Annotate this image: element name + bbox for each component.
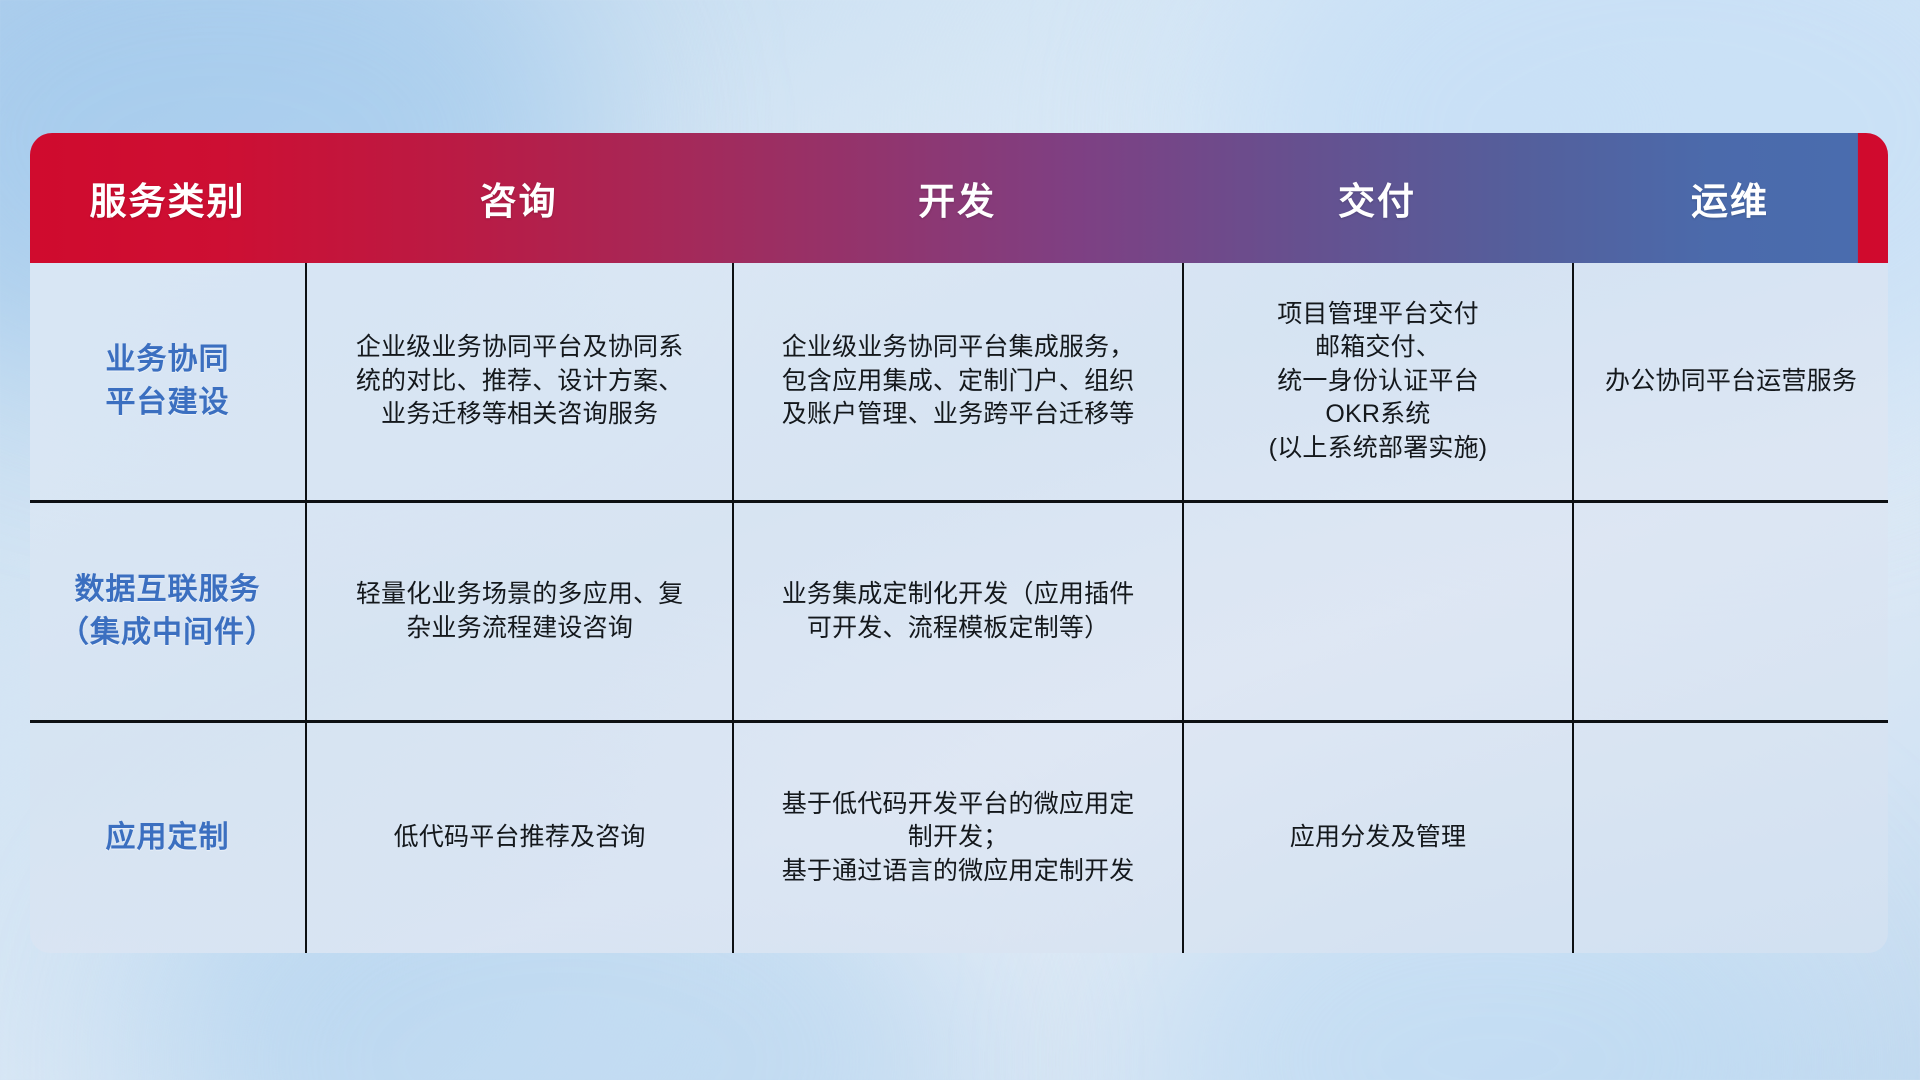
cell-line: 基于通过语言的微应用定制开发 <box>750 855 1166 889</box>
cell-line: 邮箱交付、 <box>1200 331 1556 365</box>
column-header-delivery: 交付 <box>1182 133 1572 263</box>
cell-row2-operations <box>1572 503 1888 723</box>
column-header-development: 开发 <box>732 133 1182 263</box>
cell-line: 及账户管理、业务跨平台迁移等 <box>750 398 1166 432</box>
cell-line: (以上系统部署实施) <box>1200 432 1556 466</box>
cell-row2-consulting: 轻量化业务场景的多应用、复 杂业务流程建设咨询 <box>305 503 732 723</box>
row-label-line: 应用定制 <box>46 817 289 860</box>
cell-row1-operations: 办公协同平台运营服务 <box>1572 263 1888 503</box>
row-label-app-customization: 应用定制 <box>30 723 305 953</box>
row-label-line: 数据互联服务 <box>46 569 289 612</box>
column-header-operations: 运维 <box>1572 133 1888 263</box>
table-row: 业务协同 平台建设 企业级业务协同平台及协同系 统的对比、推荐、设计方案、 业务… <box>30 263 1888 503</box>
cell-line: 企业级业务协同平台及协同系 <box>323 331 716 365</box>
cell-line: 应用分发及管理 <box>1200 821 1556 855</box>
column-header-category: 服务类别 <box>30 133 305 263</box>
table-header: 服务类别 咨询 开发 交付 运维 <box>30 133 1888 263</box>
cell-row3-delivery: 应用分发及管理 <box>1182 723 1572 953</box>
row-label-line: 业务协同 <box>46 339 289 382</box>
cell-row3-development: 基于低代码开发平台的微应用定 制开发； 基于通过语言的微应用定制开发 <box>732 723 1182 953</box>
cell-line: 项目管理平台交付 <box>1200 298 1556 332</box>
table-body: 业务协同 平台建设 企业级业务协同平台及协同系 统的对比、推荐、设计方案、 业务… <box>30 263 1888 953</box>
cell-line: 业务迁移等相关咨询服务 <box>323 398 716 432</box>
cell-line: 业务集成定制化开发（应用插件 <box>750 578 1166 612</box>
cell-empty <box>1590 611 1872 612</box>
cell-row2-development: 业务集成定制化开发（应用插件 可开发、流程模板定制等） <box>732 503 1182 723</box>
row-label-business-collaboration: 业务协同 平台建设 <box>30 263 305 503</box>
cell-line: 包含应用集成、定制门户、组织 <box>750 365 1166 399</box>
cell-line: OKR系统 <box>1200 398 1556 432</box>
table-row: 应用定制 低代码平台推荐及咨询 基于低代码开发平台的微应用定 制开发； 基于通过… <box>30 723 1888 953</box>
cell-line: 办公协同平台运营服务 <box>1590 365 1872 399</box>
cell-row2-delivery <box>1182 503 1572 723</box>
cell-line: 统一身份认证平台 <box>1200 365 1556 399</box>
cell-empty <box>1590 838 1872 839</box>
cell-line: 可开发、流程模板定制等） <box>750 612 1166 646</box>
cell-empty <box>1200 611 1556 612</box>
cell-line: 杂业务流程建设咨询 <box>323 612 716 646</box>
table-header-row: 服务类别 咨询 开发 交付 运维 <box>30 133 1888 263</box>
row-label-line: 平台建设 <box>46 382 289 425</box>
cell-row1-consulting: 企业级业务协同平台及协同系 统的对比、推荐、设计方案、 业务迁移等相关咨询服务 <box>305 263 732 503</box>
cell-line: 低代码平台推荐及咨询 <box>323 821 716 855</box>
cell-row1-development: 企业级业务协同平台集成服务， 包含应用集成、定制门户、组织 及账户管理、业务跨平… <box>732 263 1182 503</box>
service-matrix-table-container: 服务类别 咨询 开发 交付 运维 业务协同 平台建设 企业级业务协同平台及协同系… <box>30 133 1888 953</box>
cell-line: 统的对比、推荐、设计方案、 <box>323 365 716 399</box>
cell-line: 轻量化业务场景的多应用、复 <box>323 578 716 612</box>
cell-line: 企业级业务协同平台集成服务， <box>750 331 1166 365</box>
row-label-line: （集成中间件） <box>46 612 289 655</box>
table-row: 数据互联服务 （集成中间件） 轻量化业务场景的多应用、复 杂业务流程建设咨询 业… <box>30 503 1888 723</box>
cell-line: 基于低代码开发平台的微应用定 <box>750 788 1166 822</box>
service-matrix-table: 服务类别 咨询 开发 交付 运维 业务协同 平台建设 企业级业务协同平台及协同系… <box>30 133 1888 953</box>
cell-row3-consulting: 低代码平台推荐及咨询 <box>305 723 732 953</box>
cell-row1-delivery: 项目管理平台交付 邮箱交付、 统一身份认证平台 OKR系统 (以上系统部署实施) <box>1182 263 1572 503</box>
column-header-consulting: 咨询 <box>305 133 732 263</box>
cell-line: 制开发； <box>750 821 1166 855</box>
row-label-data-integration: 数据互联服务 （集成中间件） <box>30 503 305 723</box>
cell-row3-operations <box>1572 723 1888 953</box>
